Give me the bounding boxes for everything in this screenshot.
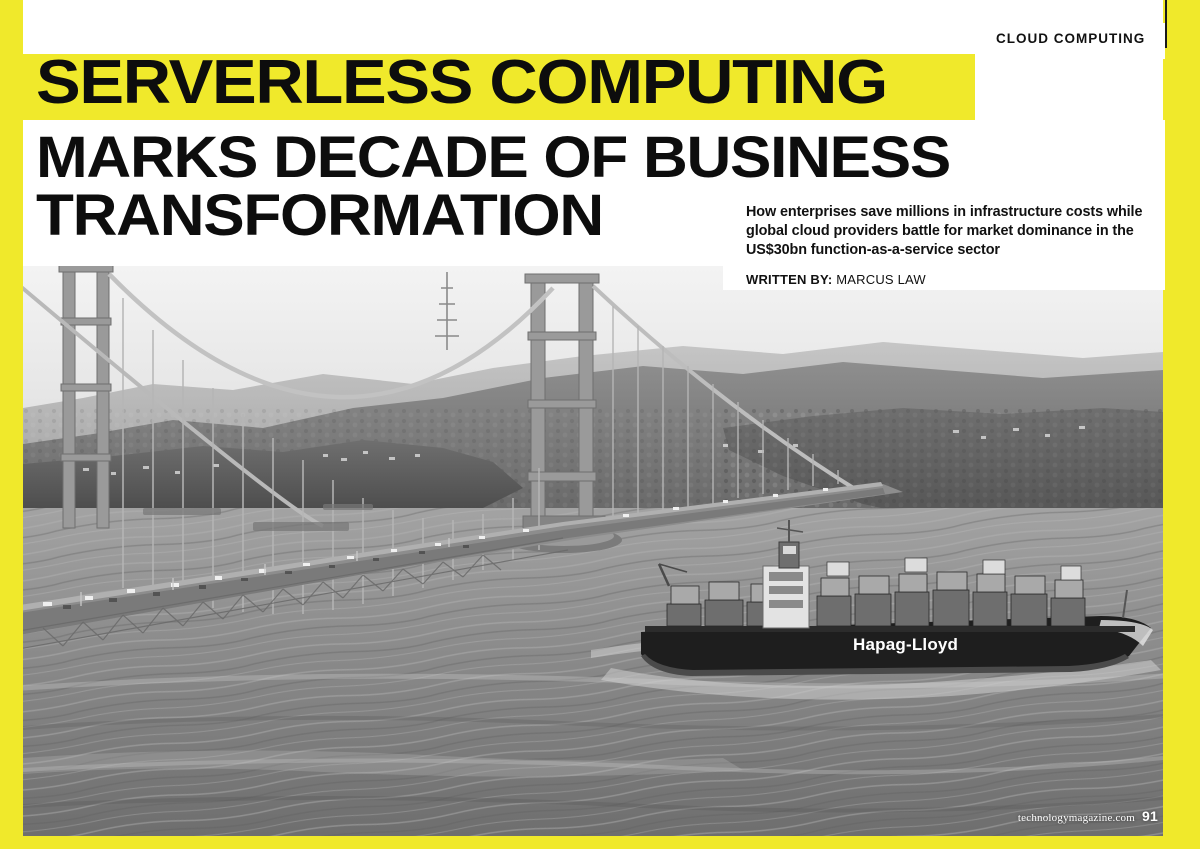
hero-photo-artwork: Hapag-Lloyd bbox=[23, 258, 1163, 836]
byline-author: MARCUS LAW bbox=[836, 272, 926, 287]
footer-site-url: technologymagazine.com bbox=[1018, 812, 1135, 824]
kicker-divider-rule bbox=[1165, 0, 1167, 48]
headline-line-2: MARKS DECADE OF BUSINESS bbox=[36, 132, 950, 183]
page-footer: technologymagazine.com91 bbox=[1018, 808, 1158, 824]
section-kicker: CLOUD COMPUTING bbox=[996, 31, 1145, 46]
byline-prefix: WRITTEN BY: bbox=[746, 272, 832, 287]
ship-name-text: Hapag-Lloyd bbox=[853, 635, 958, 654]
standfirst-text: How enterprises save millions in infrast… bbox=[746, 203, 1166, 260]
hero-photo: Hapag-Lloyd bbox=[23, 258, 1163, 836]
headline-line-1: SERVERLESS COMPUTING bbox=[36, 56, 887, 111]
byline: WRITTEN BY: MARCUS LAW bbox=[746, 272, 926, 287]
footer-page-number: 91 bbox=[1142, 808, 1158, 824]
magazine-spread: Hapag-Lloyd CLOUD COMPUTING SERVERLESS C… bbox=[0, 0, 1200, 849]
headline-line-3: TRANSFORMATION bbox=[36, 190, 603, 241]
